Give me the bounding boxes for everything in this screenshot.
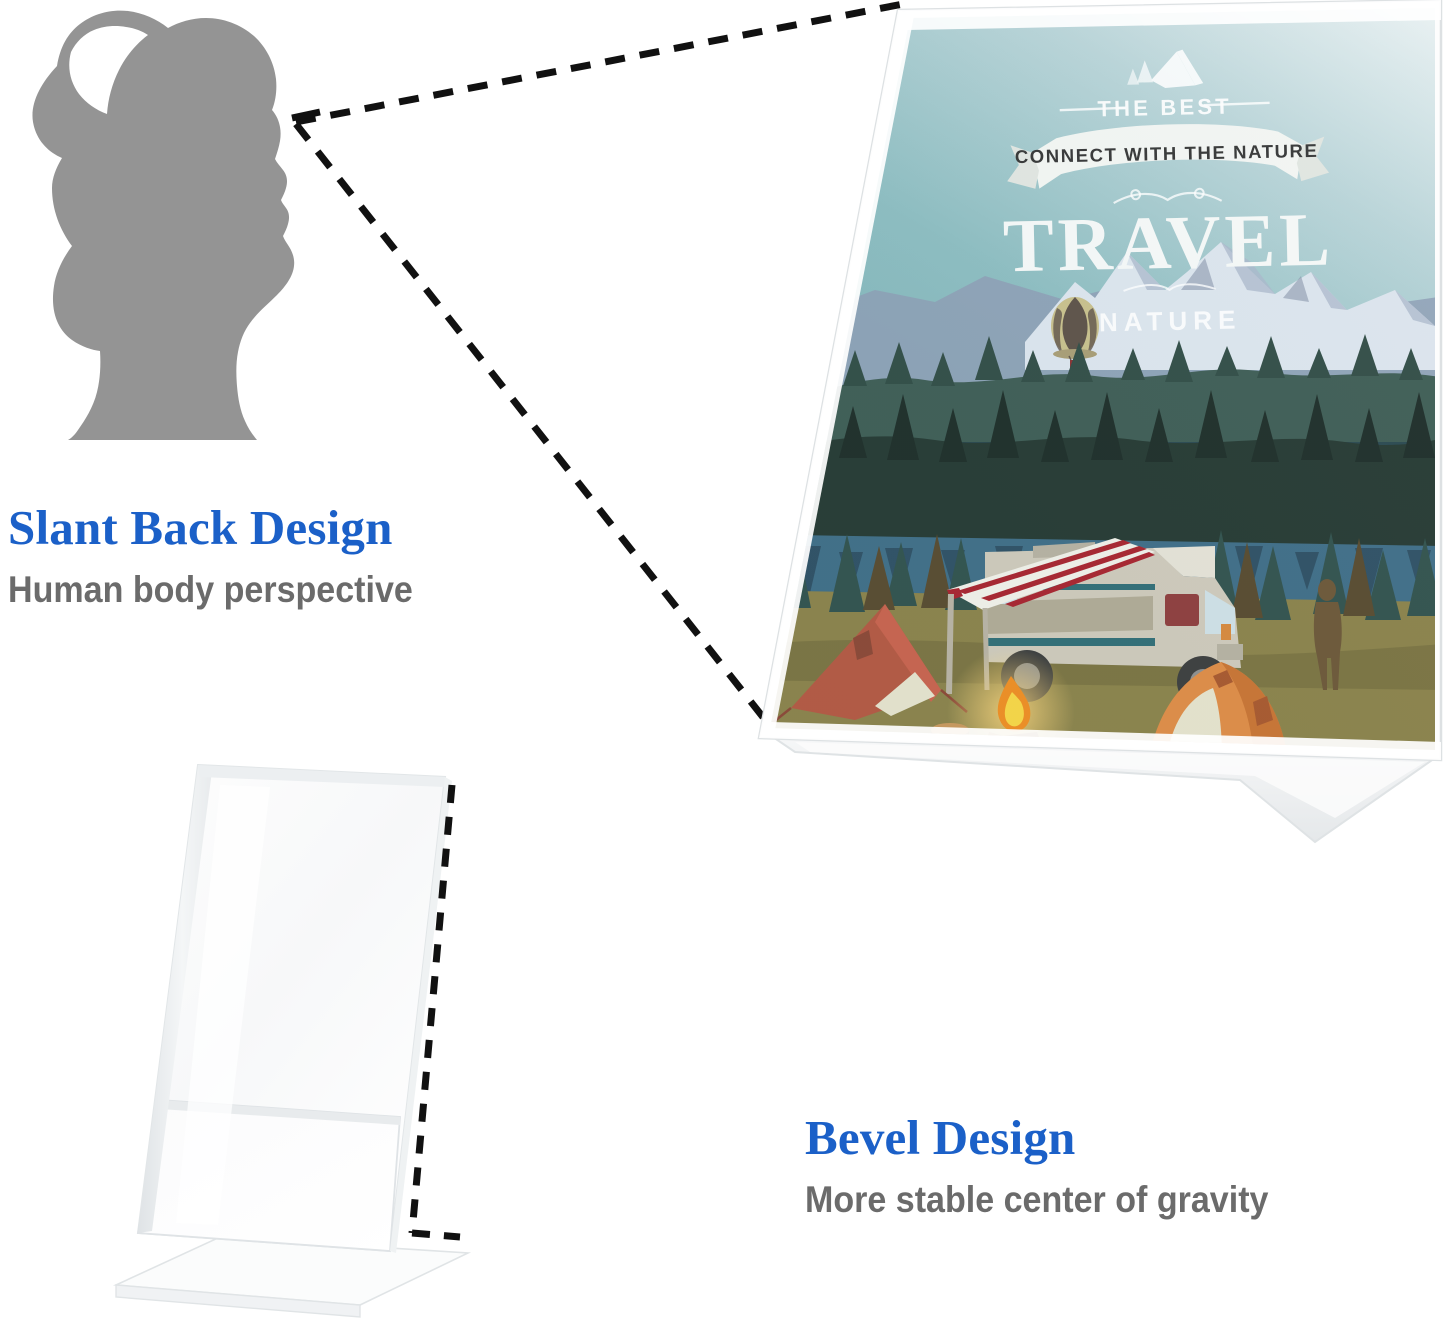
product-feature-graphic: THE BEST CONNECT WITH THE NATURE TRAVEL — [0, 0, 1445, 1341]
woman-profile-silhouette-icon — [0, 0, 330, 440]
holder-front-pocket-panel — [138, 1100, 400, 1251]
empty-acrylic-holder — [100, 745, 520, 1341]
feature-bevel-title: Bevel Design — [805, 1112, 1309, 1164]
feature-slant-back-subtitle: Human body perspective — [8, 570, 413, 611]
acrylic-holder-with-poster: THE BEST CONNECT WITH THE NATURE TRAVEL — [735, 0, 1445, 870]
bevel-guide-horizontal — [412, 1233, 460, 1237]
feature-slant-back-title: Slant Back Design — [8, 502, 448, 554]
feature-bevel: Bevel Design More stable center of gravi… — [805, 1112, 1309, 1221]
acrylic-gloss-overlay — [770, 8, 1435, 750]
feature-slant-back: Slant Back Design Human body perspective — [8, 502, 448, 611]
feature-bevel-subtitle: More stable center of gravity — [805, 1180, 1268, 1221]
sight-line-lower-dashed — [296, 124, 766, 721]
